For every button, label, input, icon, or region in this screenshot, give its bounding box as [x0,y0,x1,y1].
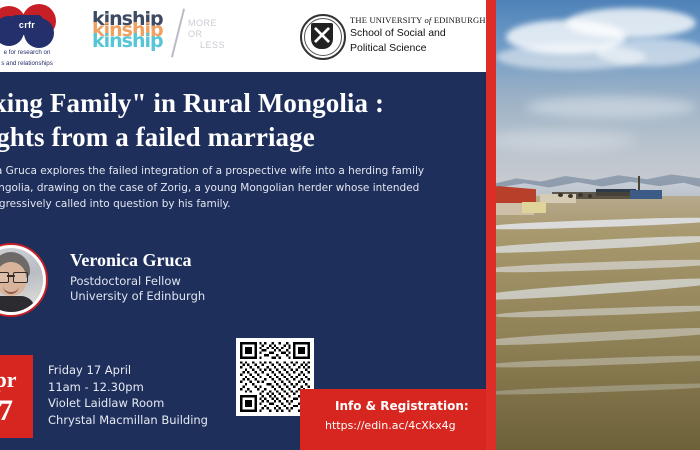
more-or-less-text: MORE OR LESS [188,18,225,51]
title-line-2: sights from a failed marriage [0,120,478,154]
red-divider [486,0,496,450]
date-badge-day: 7 [0,395,33,427]
more-label: MORE [188,18,225,29]
avatar [0,243,48,317]
speaker-text: Veronica Gruca Postdoctoral Fellow Unive… [70,249,205,304]
content-column: crfr e for research on s and relationshi… [0,0,490,450]
date-badge: pr 7 [0,355,33,438]
event-room: Violet Laidlaw Room [48,395,208,412]
crfr-mark-icon: crfr [0,4,62,46]
speaker-affiliation: University of Edinburgh [70,289,205,304]
edinburgh-crest-icon [300,14,346,60]
speaker-block: Veronica Gruca Postdoctoral Fellow Unive… [0,243,274,321]
crfr-tagline-line1: e for research on [0,49,82,57]
crfr-acronym: crfr [11,15,43,35]
event-date: Friday 17 April [48,362,208,379]
registration-heading: Info & Registration: [335,399,469,413]
logo-header: crfr e for research on s and relationshi… [0,0,490,72]
edinburgh-logo: THE UNIVERSITY of EDINBURGH School of So… [300,14,490,62]
crfr-logo: crfr e for research on s and relationshi… [0,4,82,68]
herding-camp [496,186,700,222]
speaker-portrait-icon [0,254,32,300]
event-building: Chrystal Macmillan Building [48,412,208,429]
edinburgh-text: THE UNIVERSITY of EDINBURGH School of So… [350,15,486,55]
event-details: Friday 17 April 11am - 12.30pm Violet La… [48,362,208,428]
edinburgh-university-line: THE UNIVERSITY of EDINBURGH [350,15,486,25]
poster-description: ronica Gruca explores the failed integra… [0,163,470,213]
kinship-word-cyan: kinship [92,32,163,51]
edinburgh-school-line1: School of Social and [350,27,486,40]
event-time: 11am - 12.30pm [48,379,208,396]
kinship-more-or-less-logo: kinship kinship kinship MORE OR LESS [92,8,227,64]
date-badge-month: pr [0,355,33,395]
steppe-ground [496,196,700,450]
crfr-tagline-line2: s and relationships [0,60,82,68]
registration-panel: Info & Registration: https://edin.ac/4cX… [300,389,490,450]
kinship-wordmark: kinship kinship kinship [92,10,184,56]
speaker-name: Veronica Gruca [70,249,205,271]
landscape-photo [496,0,700,450]
poster-title: aking Family" in Rural Mongolia : sights… [0,86,478,154]
edinburgh-school-line2: Political Science [350,42,486,55]
event-poster: crfr e for research on s and relationshi… [0,0,700,450]
or-label: OR [188,29,225,40]
registration-url[interactable]: https://edin.ac/4cXkx4g [325,419,456,432]
speaker-role: Postdoctoral Fellow [70,274,205,289]
less-label: LESS [200,40,225,51]
title-line-1: aking Family" in Rural Mongolia : [0,86,478,120]
